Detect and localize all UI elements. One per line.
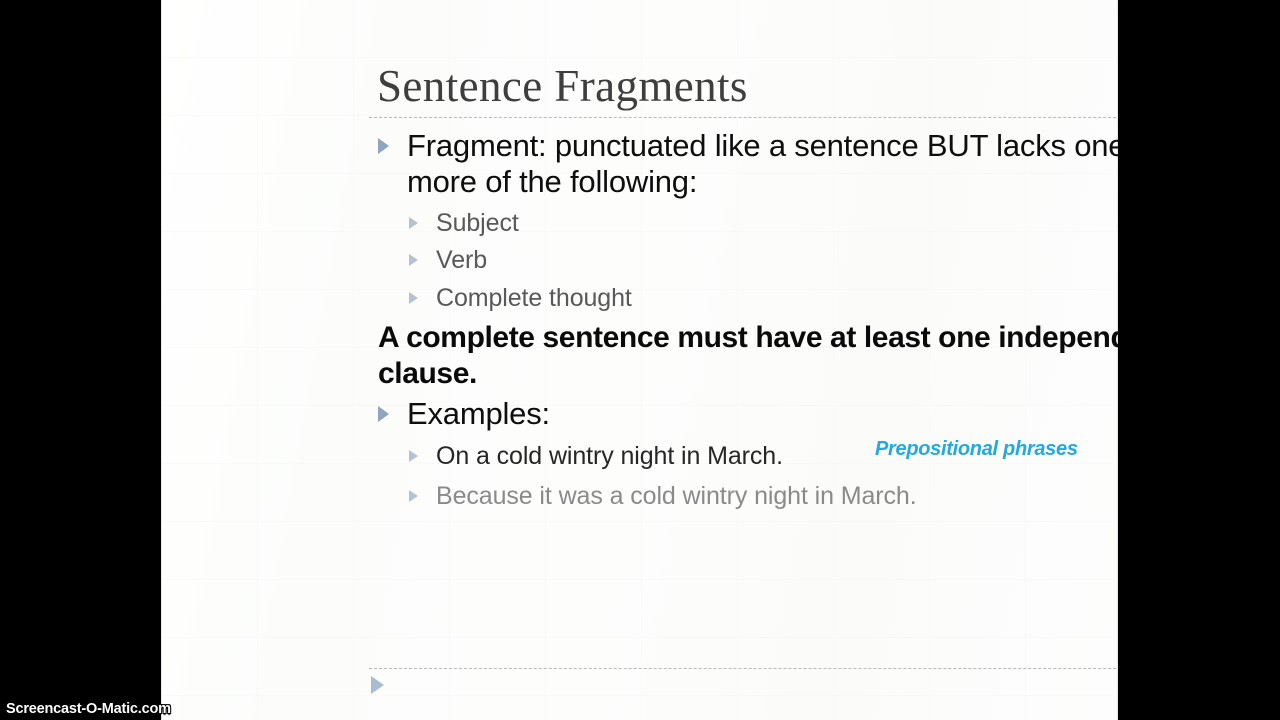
bullet-triangle-icon	[378, 138, 389, 154]
bullet-item-examples: Examples:	[407, 396, 1118, 432]
footer-divider-line	[369, 668, 1118, 669]
bullet-item-subject: Subject	[436, 208, 1118, 238]
bullet-item-fragment-definition: Fragment: punctuated like a sentence BUT…	[407, 128, 1118, 200]
annotation-prepositional-phrases: Prepositional phrases	[875, 437, 1078, 461]
bullet-text: Fragment: punctuated like a sentence BUT…	[407, 128, 1118, 199]
example-text: On a cold wintry night in March.	[436, 442, 783, 470]
bullet-triangle-icon	[409, 254, 418, 266]
bullet-triangle-icon	[409, 490, 418, 502]
bullet-text: Complete thought	[436, 284, 632, 312]
key-statement: A complete sentence must have at least o…	[378, 320, 1118, 392]
example-text: Because it was a cold wintry night in Ma…	[436, 482, 917, 510]
bullet-triangle-icon	[409, 217, 418, 229]
title-divider-line	[369, 117, 1118, 118]
presentation-slide: Sentence Fragments Fragment: punctuated …	[161, 0, 1118, 720]
bullet-text: Examples:	[407, 396, 550, 431]
bullet-text: Subject	[436, 209, 519, 237]
bullet-triangle-icon	[409, 450, 418, 462]
example-item-subordinate: Because it was a cold wintry night in Ma…	[436, 481, 1118, 511]
bullet-triangle-icon	[409, 292, 418, 304]
bullet-triangle-icon	[371, 676, 384, 694]
bullet-text: Verb	[436, 246, 487, 274]
page-title: Sentence Fragments	[377, 60, 748, 112]
video-player-frame: Sentence Fragments Fragment: punctuated …	[0, 0, 1280, 720]
screencast-watermark: Screencast-O-Matic.com	[6, 701, 171, 717]
bullet-item-verb: Verb	[436, 245, 1118, 275]
bullet-triangle-icon	[378, 406, 389, 422]
bullet-item-complete-thought: Complete thought	[436, 283, 1118, 313]
